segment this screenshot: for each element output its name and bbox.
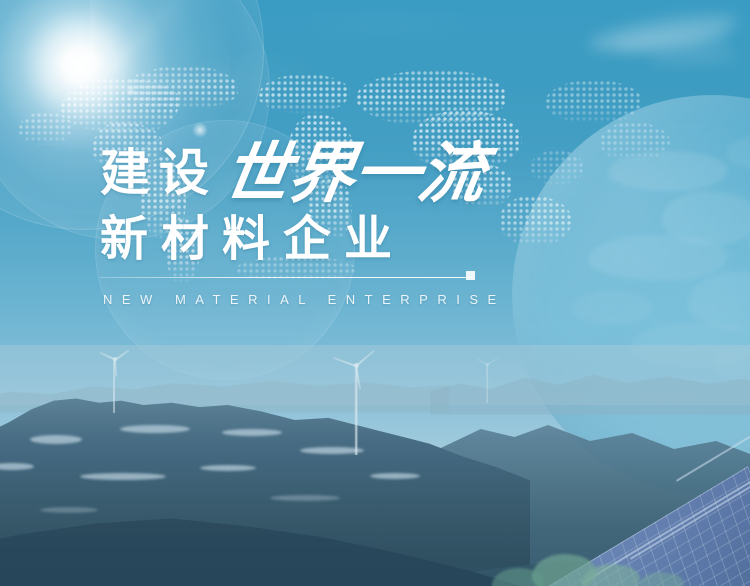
- snow-patch: [370, 473, 420, 479]
- banner-root: 建设 世界一流 新材料企业 NEW MATERIAL ENTERPRISE: [0, 0, 750, 586]
- rule-end-square: [466, 271, 475, 280]
- map-continent: [545, 80, 641, 124]
- snow-patch: [40, 507, 98, 513]
- snow-patch: [80, 473, 166, 480]
- snow-patch: [30, 435, 82, 444]
- wind-turbine-icon: [96, 351, 132, 413]
- subtitle-text: NEW MATERIAL ENTERPRISE: [103, 292, 506, 307]
- headline-plain-text: 建设: [100, 148, 218, 198]
- wispy-cloud-icon: [300, 18, 470, 32]
- snow-patch: [200, 465, 256, 471]
- foliage: [492, 568, 544, 586]
- snow-patch: [0, 463, 34, 470]
- headline-block: 建设 世界一流 新材料企业: [100, 134, 660, 264]
- headline-line-1: 建设 世界一流: [100, 134, 660, 200]
- solar-panel-array: [490, 436, 750, 586]
- snow-patch: [270, 495, 340, 501]
- wind-turbine-icon: [332, 355, 380, 455]
- landscape-scene: [0, 345, 750, 586]
- snow-patch: [222, 429, 282, 436]
- snow-patch: [120, 425, 190, 433]
- horizontal-rule: [100, 277, 472, 278]
- headline-line-2: 新材料企业: [100, 216, 660, 264]
- headline-emphasis-text: 世界一流: [219, 140, 489, 206]
- wind-turbine-icon: [474, 359, 500, 403]
